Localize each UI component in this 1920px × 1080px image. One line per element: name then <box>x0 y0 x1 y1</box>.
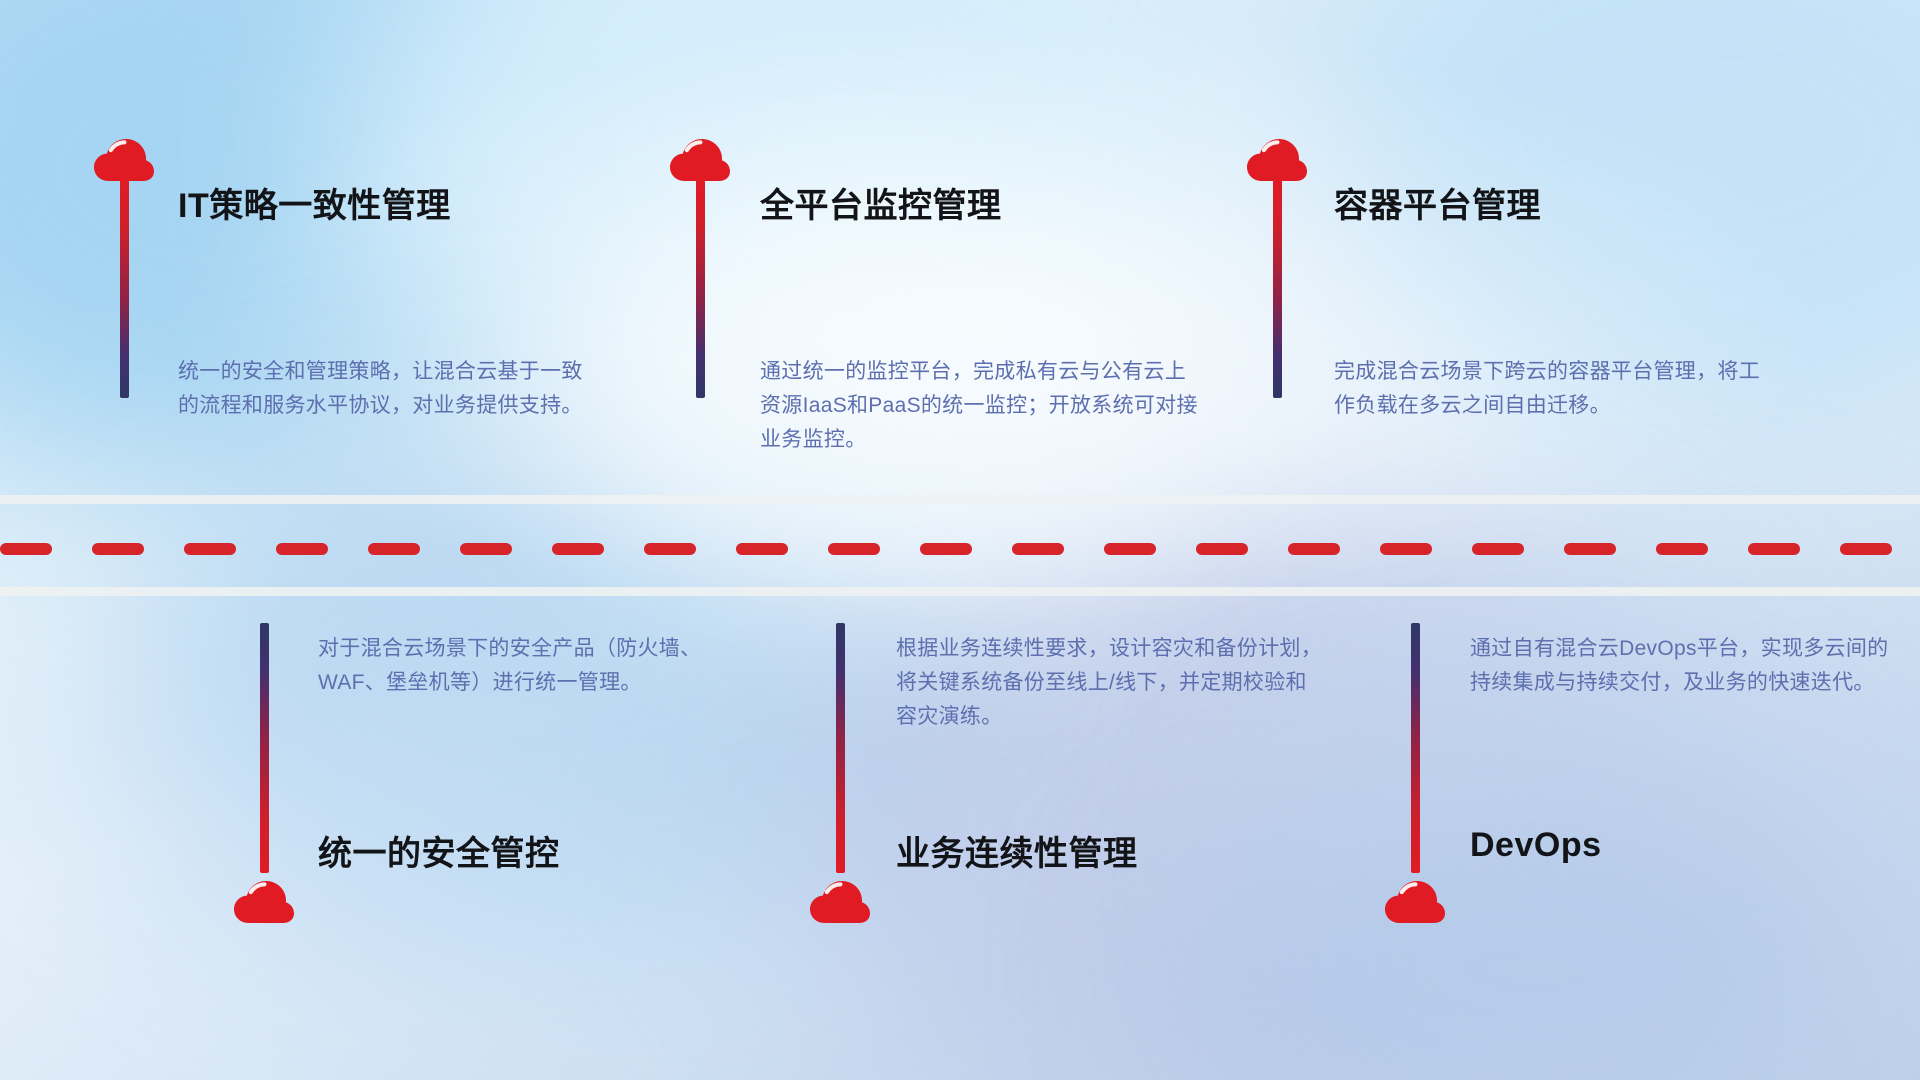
item-title: DevOps <box>1470 826 1602 865</box>
red-dash <box>644 543 696 555</box>
red-dash <box>368 543 420 555</box>
red-dash <box>460 543 512 555</box>
road-line-top <box>0 495 1920 504</box>
red-dash <box>1380 543 1432 555</box>
cloud-icon <box>233 880 295 924</box>
red-dash <box>1012 543 1064 555</box>
item-title: 业务连续性管理 <box>896 826 1138 875</box>
cloud-icon <box>93 138 155 182</box>
pin-stem <box>696 180 705 398</box>
item-description: 根据业务连续性要求，设计容灾和备份计划，将关键系统备份至线上/线下，并定期校验和… <box>896 632 1326 734</box>
red-dash <box>736 543 788 555</box>
item-description: 统一的安全和管理策略，让混合云基于一致的流程和服务水平协议，对业务提供支持。 <box>178 355 603 423</box>
road-dashes <box>0 543 1920 555</box>
item-title: 全平台监控管理 <box>760 178 1002 227</box>
item-title: 容器平台管理 <box>1334 178 1541 227</box>
infographic-canvas: IT策略一致性管理 统一的安全和管理策略，让混合云基于一致的流程和服务水平协议，… <box>0 0 1920 1080</box>
pin-stem <box>260 623 269 873</box>
item-description: 通过自有混合云DevOps平台，实现多云间的持续集成与持续交付，及业务的快速迭代… <box>1470 632 1890 700</box>
cloud-icon <box>1384 880 1446 924</box>
item-title: IT策略一致性管理 <box>178 178 451 227</box>
cloud-icon <box>669 138 731 182</box>
road-line-bottom <box>0 587 1920 596</box>
red-dash <box>184 543 236 555</box>
item-description: 对于混合云场景下的安全产品（防火墙、WAF、堡垒机等）进行统一管理。 <box>318 632 748 700</box>
red-dash <box>276 543 328 555</box>
red-dash <box>828 543 880 555</box>
red-dash <box>1656 543 1708 555</box>
red-dash <box>1288 543 1340 555</box>
red-dash <box>1748 543 1800 555</box>
pin-stem <box>1411 623 1420 873</box>
item-description: 完成混合云场景下跨云的容器平台管理，将工作负载在多云之间自由迁移。 <box>1334 355 1764 423</box>
red-dash <box>1564 543 1616 555</box>
pin-stem <box>1273 180 1282 398</box>
red-dash <box>0 543 52 555</box>
pin-stem <box>120 180 129 398</box>
item-title: 统一的安全管控 <box>318 826 560 875</box>
item-description: 通过统一的监控平台，完成私有云与公有云上资源IaaS和PaaS的统一监控；开放系… <box>760 355 1200 457</box>
red-dash <box>1840 543 1892 555</box>
red-dash <box>552 543 604 555</box>
red-dash <box>1196 543 1248 555</box>
pin-stem <box>836 623 845 873</box>
red-dash <box>1472 543 1524 555</box>
red-dash <box>92 543 144 555</box>
cloud-icon <box>1246 138 1308 182</box>
cloud-icon <box>809 880 871 924</box>
red-dash <box>920 543 972 555</box>
red-dash <box>1104 543 1156 555</box>
